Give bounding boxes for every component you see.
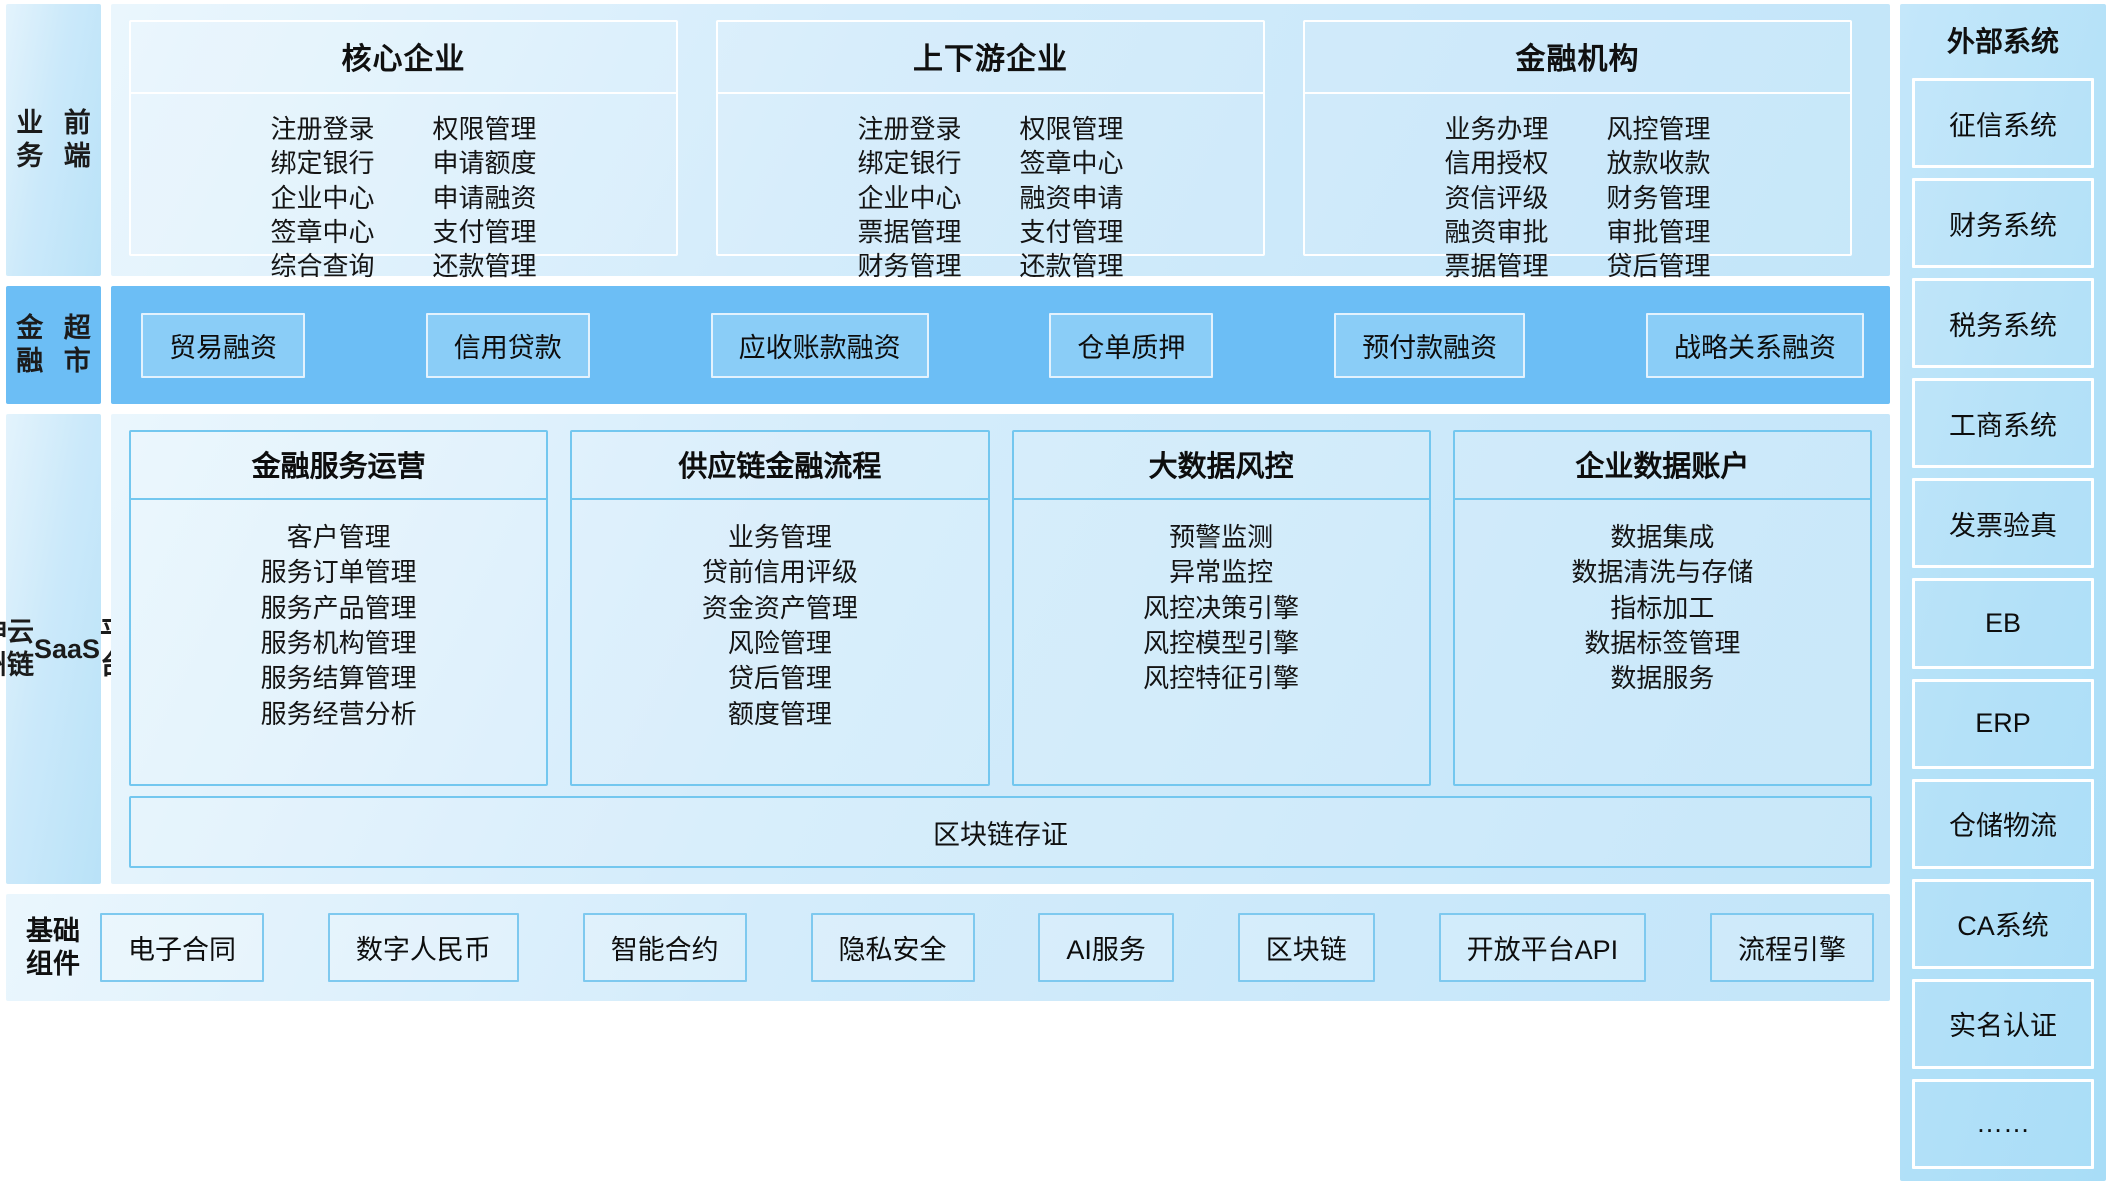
card-title: 核心企业 <box>131 22 676 94</box>
blockchain-evidence-bar[interactable]: 区块链存证 <box>129 796 1872 868</box>
list-item[interactable]: 签章中心 <box>1020 146 1124 180</box>
layer-financial-mall: 金融 超市 贸易融资 信用贷款 应收账款融资 仓单质押 预付款融资 战略关系融资 <box>6 286 1890 404</box>
card-column-left: 业务办理 信用授权 资信评级 融资审批 票据管理 <box>1444 112 1548 284</box>
external-system-finance[interactable]: 财务系统 <box>1912 178 2094 268</box>
list-item[interactable]: 服务订单管理 <box>261 555 417 590</box>
external-system-real-name-authentication[interactable]: 实名认证 <box>1912 979 2094 1069</box>
list-item[interactable]: 风险管理 <box>728 626 832 661</box>
list-item[interactable]: 绑定银行 <box>857 146 961 180</box>
list-item[interactable]: 财务管理 <box>857 249 961 283</box>
card-financial-service-operation[interactable]: 金融服务运营 客户管理 服务订单管理 服务产品管理 服务机构管理 服务结算管理 … <box>129 430 548 786</box>
card-enterprise-data-account[interactable]: 企业数据账户 数据集成 数据清洗与存储 指标加工 数据标签管理 数据服务 <box>1453 430 1872 786</box>
list-item[interactable]: 还款管理 <box>433 249 537 283</box>
list-item[interactable]: 额度管理 <box>728 697 832 732</box>
main-column: 业务 前端 核心企业 注册登录 绑定银行 企业中心 签章中心 综合查询 <box>6 4 1890 1181</box>
list-item[interactable]: 权限管理 <box>1020 112 1124 146</box>
list-item[interactable]: 审批管理 <box>1607 215 1711 249</box>
list-item[interactable]: 企业中心 <box>857 181 961 215</box>
card-title: 金融机构 <box>1305 22 1850 94</box>
list-item[interactable]: 贷后管理 <box>728 661 832 696</box>
layer-label-line-3: SaaS <box>34 633 100 666</box>
list-item[interactable]: 信用授权 <box>1444 146 1548 180</box>
card-column-right: 权限管理 申请额度 申请融资 支付管理 还款管理 <box>433 112 537 284</box>
list-item[interactable]: 注册登录 <box>270 112 374 146</box>
card-title: 上下游企业 <box>718 22 1263 94</box>
list-item[interactable]: 申请额度 <box>433 146 537 180</box>
external-system-erp[interactable]: ERP <box>1912 679 2094 769</box>
layer-label-line-2: 云链 <box>7 616 34 682</box>
card-title: 大数据风控 <box>1014 432 1429 500</box>
list-item[interactable]: 服务产品管理 <box>261 591 417 626</box>
layer-label-line-2: 超市 <box>54 312 102 378</box>
external-system-business-registration[interactable]: 工商系统 <box>1912 378 2094 468</box>
card-title: 企业数据账户 <box>1455 432 1870 500</box>
layer-saas-platform: 神州 云链 SaaS 平台 金融服务运营 客户管理 服务订单管理 服务产品管理 <box>6 414 1890 884</box>
layer-label-saas-platform: 神州 云链 SaaS 平台 <box>6 414 101 884</box>
layer-label-line-1: 业务 <box>6 107 54 173</box>
list-item[interactable]: 票据管理 <box>857 215 961 249</box>
list-item[interactable]: 支付管理 <box>433 215 537 249</box>
layer-label-line-2: 组件 <box>26 949 80 979</box>
list-item[interactable]: 贷后管理 <box>1607 249 1711 283</box>
list-item[interactable]: 指标加工 <box>1610 591 1714 626</box>
card-body: 客户管理 服务订单管理 服务产品管理 服务机构管理 服务结算管理 服务经营分析 <box>131 500 546 784</box>
card-big-data-risk-control[interactable]: 大数据风控 预警监测 异常监控 风控决策引擎 风控模型引擎 风控特征引擎 <box>1012 430 1431 786</box>
external-system-credit-reporting[interactable]: 征信系统 <box>1912 78 2094 168</box>
base-components-panel: 基础 组件 电子合同 数字人民币 智能合约 隐私安全 AI服务 区块链 开放平台… <box>6 894 1890 1001</box>
saas-platform-panel: 金融服务运营 客户管理 服务订单管理 服务产品管理 服务机构管理 服务结算管理 … <box>111 414 1890 884</box>
list-item[interactable]: 融资申请 <box>1020 181 1124 215</box>
layer-label-line-1: 基础 <box>26 916 80 946</box>
business-front-end-panel: 核心企业 注册登录 绑定银行 企业中心 签章中心 综合查询 权限管理 <box>111 4 1890 276</box>
list-item[interactable]: 风控决策引擎 <box>1143 591 1299 626</box>
layer-label-line-1: 神州 <box>0 616 7 682</box>
list-item[interactable]: 权限管理 <box>433 112 537 146</box>
layer-business-front-end: 业务 前端 核心企业 注册登录 绑定银行 企业中心 签章中心 综合查询 <box>6 4 1890 276</box>
list-item[interactable]: 绑定银行 <box>270 146 374 180</box>
list-item[interactable]: 财务管理 <box>1607 181 1711 215</box>
external-system-invoice-verification[interactable]: 发票验真 <box>1912 478 2094 568</box>
layer-label-line-2: 前端 <box>54 107 102 173</box>
mall-item-receivables-financing[interactable]: 应收账款融资 <box>711 313 929 378</box>
list-item[interactable]: 服务机构管理 <box>261 626 417 661</box>
list-item[interactable]: 资金资产管理 <box>702 591 858 626</box>
base-chip-process-engine[interactable]: 流程引擎 <box>1710 913 1874 982</box>
list-item[interactable]: 风控特征引擎 <box>1143 661 1299 696</box>
external-system-ca[interactable]: CA系统 <box>1912 879 2094 969</box>
list-item[interactable]: 贷前信用评级 <box>702 555 858 590</box>
mall-item-strategic-relation-financing[interactable]: 战略关系融资 <box>1646 313 1864 378</box>
card-body: 数据集成 数据清洗与存储 指标加工 数据标签管理 数据服务 <box>1455 500 1870 784</box>
external-systems-panel: 外部系统 征信系统 财务系统 税务系统 工商系统 发票验真 EB ERP 仓储物… <box>1900 4 2106 1181</box>
architecture-diagram: 业务 前端 核心企业 注册登录 绑定银行 企业中心 签章中心 综合查询 <box>0 0 2114 1187</box>
mall-item-prepayment-financing[interactable]: 预付款融资 <box>1334 313 1525 378</box>
list-item[interactable]: 异常监控 <box>1169 555 1273 590</box>
list-item[interactable]: 申请融资 <box>433 181 537 215</box>
card-upstream-downstream-enterprise[interactable]: 上下游企业 注册登录 绑定银行 企业中心 票据管理 财务管理 权限管理 <box>716 20 1265 256</box>
layer-base-components: 基础 组件 电子合同 数字人民币 智能合约 隐私安全 AI服务 区块链 开放平台… <box>6 894 1890 1001</box>
base-chip-digital-rmb[interactable]: 数字人民币 <box>328 913 519 982</box>
list-item[interactable]: 资信评级 <box>1444 181 1548 215</box>
mall-item-credit-loan[interactable]: 信用贷款 <box>426 313 590 378</box>
layer-label-base-components: 基础 组件 <box>26 915 84 980</box>
card-title: 供应链金融流程 <box>572 432 987 500</box>
list-item[interactable]: 数据集成 <box>1610 520 1714 555</box>
base-chip-ai-service[interactable]: AI服务 <box>1038 913 1174 982</box>
list-item[interactable]: 风控模型引擎 <box>1143 626 1299 661</box>
list-item[interactable]: 数据清洗与存储 <box>1571 555 1753 590</box>
card-column-right: 权限管理 签章中心 融资申请 支付管理 还款管理 <box>1020 112 1124 284</box>
list-item[interactable]: 数据服务 <box>1610 661 1714 696</box>
list-item[interactable]: 业务办理 <box>1444 112 1548 146</box>
card-financial-institution[interactable]: 金融机构 业务办理 信用授权 资信评级 融资审批 票据管理 风控管理 <box>1303 20 1852 256</box>
financial-mall-panel: 贸易融资 信用贷款 应收账款融资 仓单质押 预付款融资 战略关系融资 <box>111 286 1890 404</box>
list-item[interactable]: 风控管理 <box>1607 112 1711 146</box>
base-chip-privacy-security[interactable]: 隐私安全 <box>811 913 975 982</box>
list-item[interactable]: 服务经营分析 <box>261 697 417 732</box>
card-body: 预警监测 异常监控 风控决策引擎 风控模型引擎 风控特征引擎 <box>1014 500 1429 784</box>
card-core-enterprise[interactable]: 核心企业 注册登录 绑定银行 企业中心 签章中心 综合查询 权限管理 <box>129 20 678 256</box>
layer-label-line-1: 金融 <box>6 312 54 378</box>
card-body: 业务管理 贷前信用评级 资金资产管理 风险管理 贷后管理 额度管理 <box>572 500 987 784</box>
list-item[interactable]: 企业中心 <box>270 181 374 215</box>
layer-label-business-front-end: 业务 前端 <box>6 4 101 276</box>
external-system-more[interactable]: …… <box>1912 1079 2094 1169</box>
list-item[interactable]: 支付管理 <box>1020 215 1124 249</box>
base-chip-blockchain[interactable]: 区块链 <box>1238 913 1375 982</box>
card-column-left: 注册登录 绑定银行 企业中心 票据管理 财务管理 <box>857 112 961 284</box>
base-chip-smart-contract[interactable]: 智能合约 <box>583 913 747 982</box>
card-column-left: 注册登录 绑定银行 企业中心 签章中心 综合查询 <box>270 112 374 284</box>
card-supply-chain-finance-process[interactable]: 供应链金融流程 业务管理 贷前信用评级 资金资产管理 风险管理 贷后管理 额度管… <box>570 430 989 786</box>
base-chip-electronic-contract[interactable]: 电子合同 <box>100 913 264 982</box>
card-title: 金融服务运营 <box>131 432 546 500</box>
external-system-warehouse-logistics[interactable]: 仓储物流 <box>1912 779 2094 869</box>
list-item[interactable]: 客户管理 <box>287 520 391 555</box>
base-chip-open-platform-api[interactable]: 开放平台API <box>1439 913 1647 982</box>
list-item[interactable]: 票据管理 <box>1444 249 1548 283</box>
external-systems-title: 外部系统 <box>1947 14 2059 68</box>
list-item[interactable]: 还款管理 <box>1020 249 1124 283</box>
list-item[interactable]: 业务管理 <box>728 520 832 555</box>
list-item[interactable]: 服务结算管理 <box>261 661 417 696</box>
list-item[interactable]: 注册登录 <box>857 112 961 146</box>
layer-label-financial-mall: 金融 超市 <box>6 286 101 404</box>
list-item[interactable]: 预警监测 <box>1169 520 1273 555</box>
list-item[interactable]: 融资审批 <box>1444 215 1548 249</box>
mall-item-trade-financing[interactable]: 贸易融资 <box>141 313 305 378</box>
list-item[interactable]: 综合查询 <box>270 249 374 283</box>
card-column-right: 风控管理 放款收款 财务管理 审批管理 贷后管理 <box>1607 112 1711 284</box>
external-system-eb[interactable]: EB <box>1912 578 2094 668</box>
mall-item-warehouse-receipt-pledge[interactable]: 仓单质押 <box>1049 313 1213 378</box>
list-item[interactable]: 数据标签管理 <box>1584 626 1740 661</box>
list-item[interactable]: 放款收款 <box>1607 146 1711 180</box>
list-item[interactable]: 签章中心 <box>270 215 374 249</box>
external-system-tax[interactable]: 税务系统 <box>1912 278 2094 368</box>
